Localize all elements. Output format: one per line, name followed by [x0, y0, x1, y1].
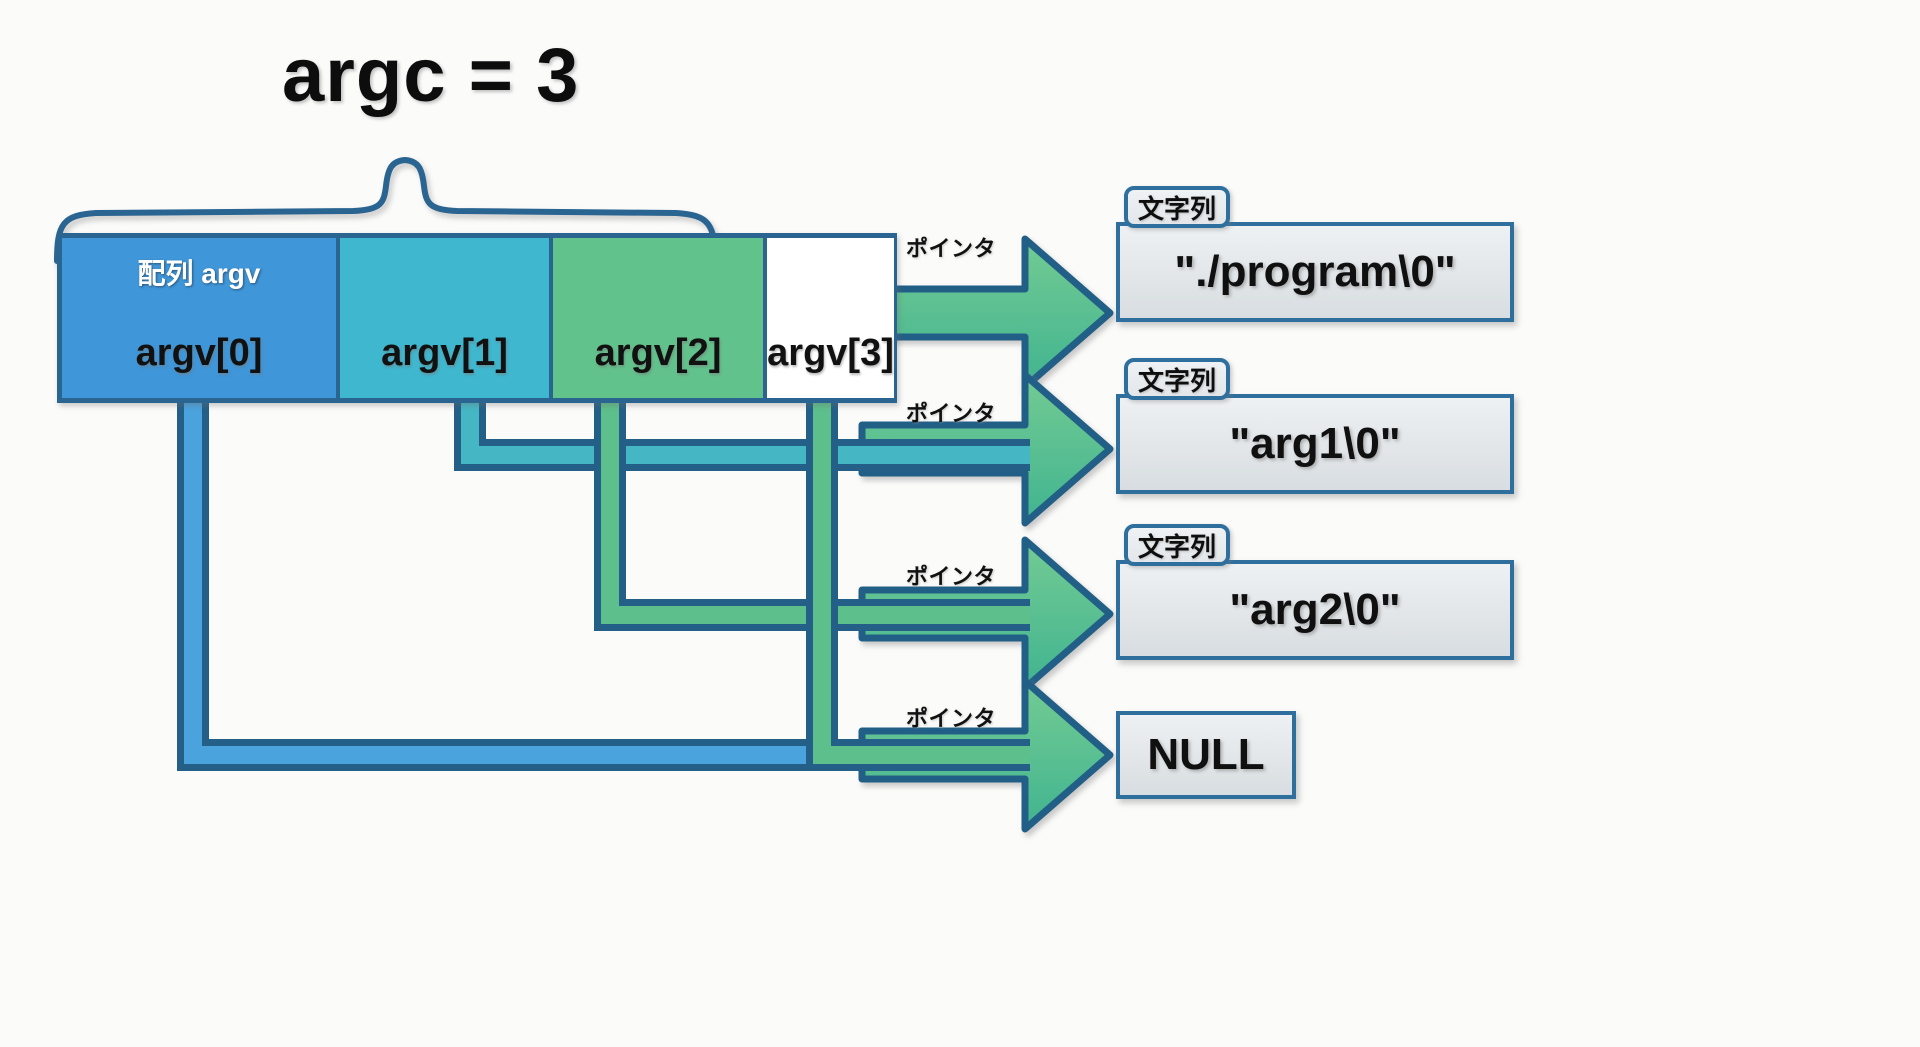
argv-cell-label-3: argv[3]: [767, 334, 894, 372]
string-box-2[interactable]: "arg1\0": [1116, 394, 1514, 494]
string-tag-2: 文字列: [1124, 358, 1230, 400]
string-tag-3: 文字列: [1124, 524, 1230, 566]
null-box[interactable]: NULL: [1116, 711, 1296, 799]
string-value-1: "./program\0": [1174, 247, 1455, 297]
argv-cell-2[interactable]: argv[2]: [553, 238, 767, 398]
argv-array: 配列 argv argv[0] argv[1] argv[2] argv[3]: [57, 233, 897, 403]
diagram-canvas: argc = 3 配列 argv argv[0] argv[1] argv[2]…: [0, 0, 1920, 1047]
pointer-label-3: ポインタ: [906, 559, 996, 591]
string-box-1[interactable]: "./program\0": [1116, 222, 1514, 322]
string-tag-label-2: 文字列: [1138, 361, 1216, 398]
argc-title: argc = 3: [282, 32, 579, 119]
argv-cell-1[interactable]: argv[1]: [340, 238, 553, 398]
connector-wires: [0, 0, 1920, 1047]
argv-cell-label-0: argv[0]: [136, 334, 263, 372]
string-value-3: "arg2\0": [1229, 585, 1400, 635]
string-tag-1: 文字列: [1124, 186, 1230, 228]
argv-cell-3[interactable]: argv[3]: [767, 238, 894, 398]
argv-cells: 配列 argv argv[0] argv[1] argv[2] argv[3]: [62, 238, 892, 398]
string-value-2: "arg1\0": [1229, 419, 1400, 469]
string-box-3[interactable]: "arg2\0": [1116, 560, 1514, 660]
array-name-label: 配列 argv: [62, 260, 336, 288]
pointer-label-4: ポインタ: [906, 701, 996, 733]
string-tag-label-1: 文字列: [1138, 189, 1216, 226]
pointer-label-2: ポインタ: [906, 396, 996, 428]
argv-cell-label-1: argv[1]: [381, 334, 508, 372]
null-value: NULL: [1147, 730, 1264, 780]
argv-cell-0[interactable]: 配列 argv argv[0]: [62, 238, 340, 398]
string-tag-label-3: 文字列: [1138, 527, 1216, 564]
argv-cell-label-2: argv[2]: [595, 334, 722, 372]
pointer-label-1: ポインタ: [906, 231, 996, 263]
